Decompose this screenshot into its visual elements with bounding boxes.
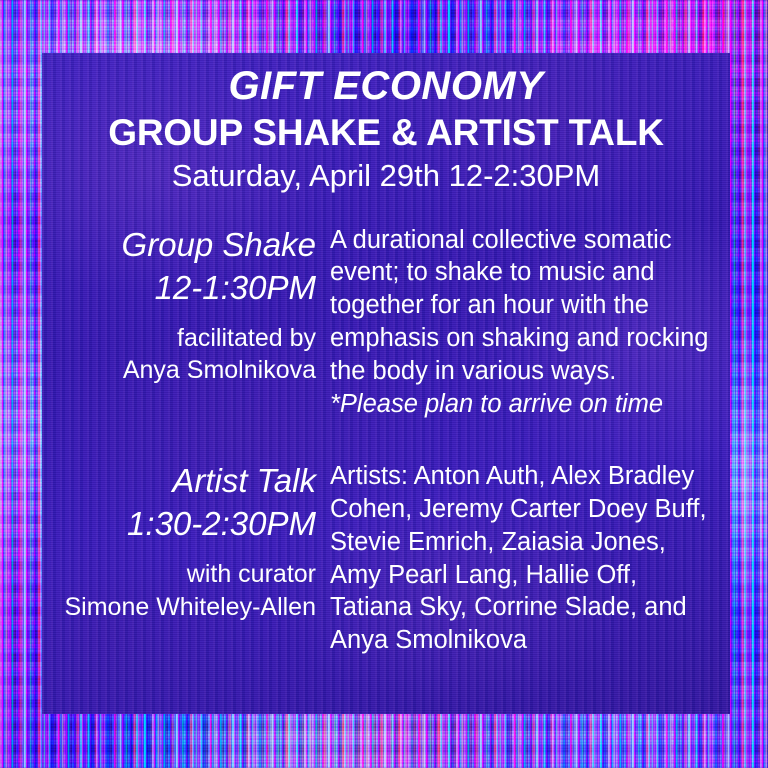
- flyer-date-time: Saturday, April 29th 12-2:30PM: [42, 158, 730, 194]
- artist-talk-heading: Artist Talk: [42, 460, 316, 503]
- section-artist-talk: Artist Talk 1:30-2:30PM with curator Sim…: [42, 460, 730, 657]
- artist-talk-right-column: Artists: Anton Auth, Alex Bradley Cohen,…: [330, 460, 730, 657]
- artist-talk-artists-list: Artists: Anton Auth, Alex Bradley Cohen,…: [330, 460, 722, 657]
- artist-talk-credit-role: with curator: [42, 558, 316, 591]
- group-shake-time: 12-1:30PM: [42, 267, 316, 310]
- artist-talk-time: 1:30-2:30PM: [42, 503, 316, 546]
- flyer-subtitle: GROUP SHAKE & ARTIST TALK: [42, 112, 730, 154]
- artist-talk-credit-name: Simone Whiteley-Allen: [42, 591, 316, 624]
- event-flyer: GIFT ECONOMY GROUP SHAKE & ARTIST TALK S…: [0, 0, 768, 768]
- group-shake-heading: Group Shake: [42, 224, 316, 267]
- group-shake-description: A durational collective somatic event; t…: [330, 224, 722, 388]
- section-group-shake: Group Shake 12-1:30PM facilitated by Any…: [42, 224, 730, 421]
- group-shake-right-column: A durational collective somatic event; t…: [330, 224, 730, 421]
- group-shake-credit-name: Anya Smolnikova: [42, 354, 316, 387]
- artist-talk-left-column: Artist Talk 1:30-2:30PM with curator Sim…: [42, 460, 330, 623]
- flyer-content: GIFT ECONOMY GROUP SHAKE & ARTIST TALK S…: [42, 53, 730, 714]
- flyer-title: GIFT ECONOMY: [42, 66, 730, 108]
- group-shake-note: *Please plan to arrive on time: [330, 388, 722, 421]
- group-shake-left-column: Group Shake 12-1:30PM facilitated by Any…: [42, 224, 330, 387]
- header-block: GIFT ECONOMY GROUP SHAKE & ARTIST TALK S…: [42, 53, 730, 194]
- group-shake-credit-role: facilitated by: [42, 322, 316, 355]
